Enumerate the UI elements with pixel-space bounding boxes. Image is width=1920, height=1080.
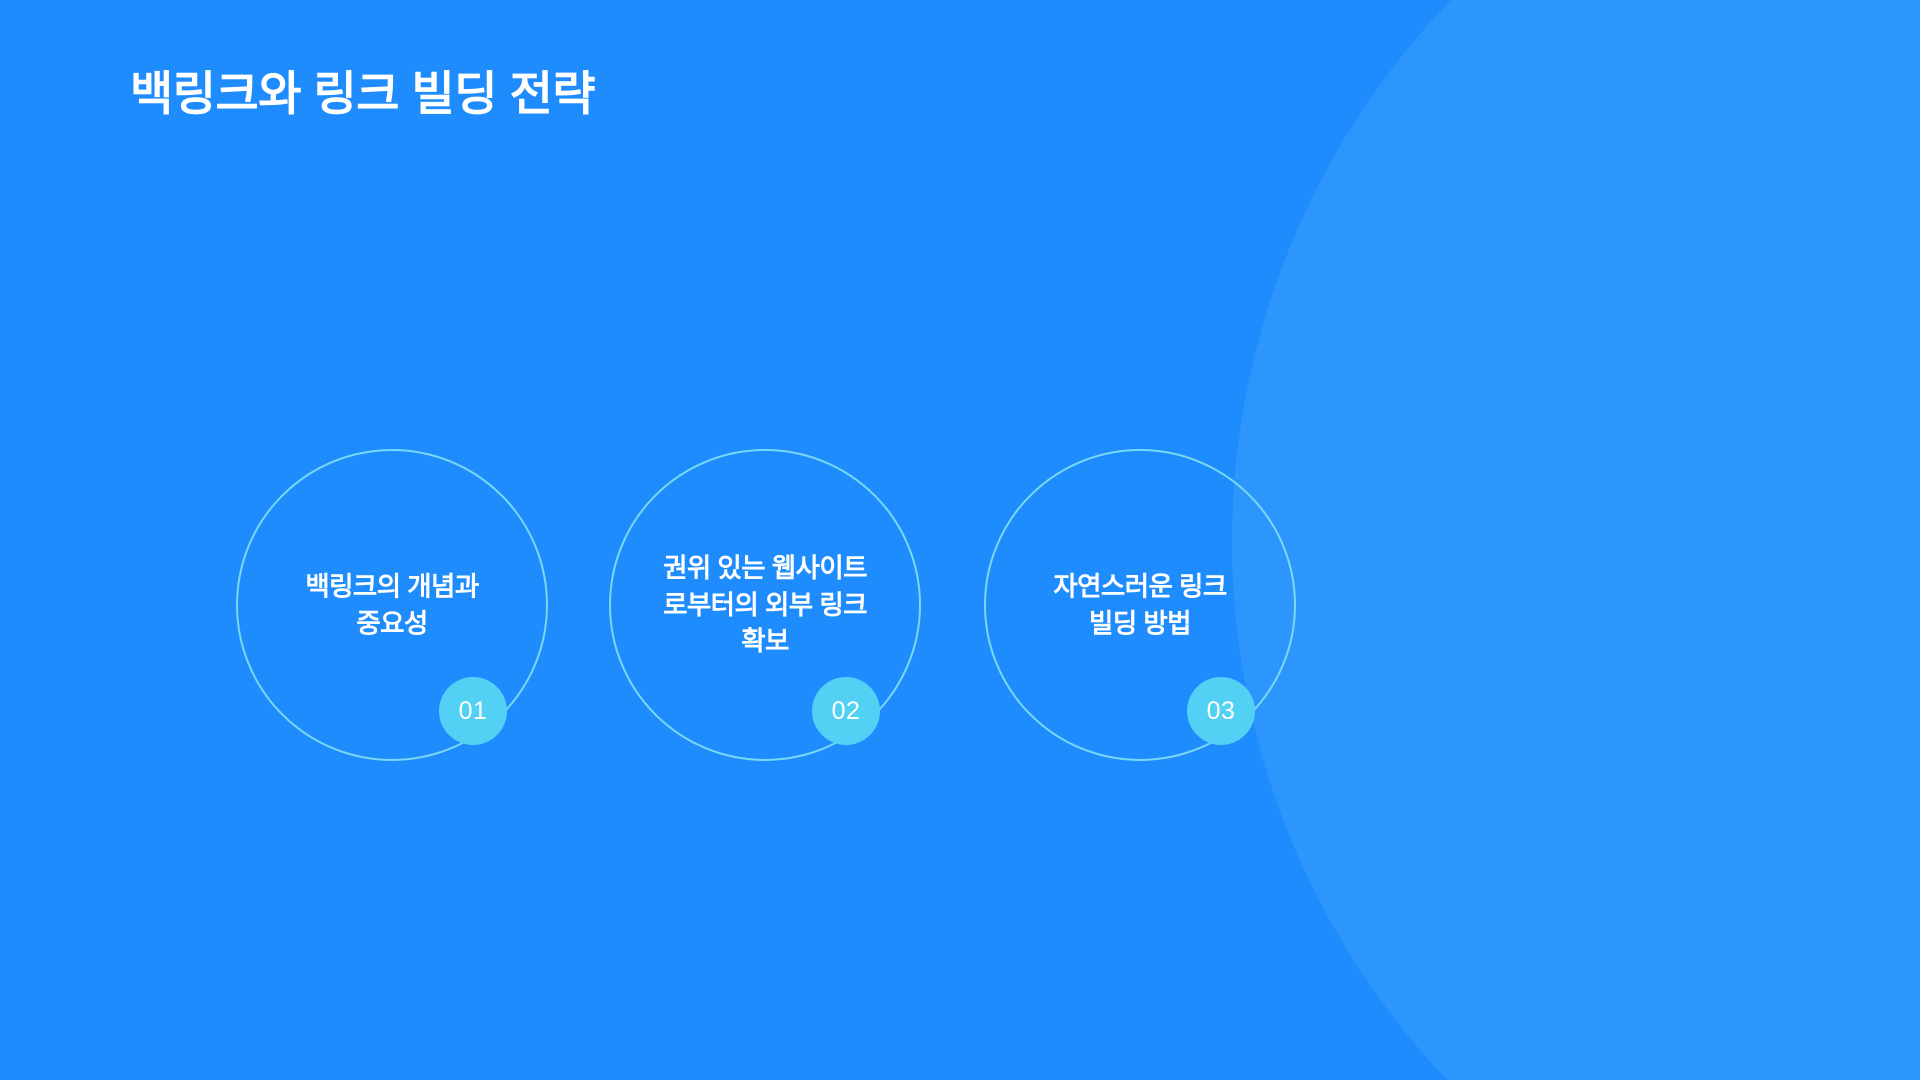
step-number-text: 02: [832, 699, 861, 724]
step-label: 권위 있는 웹사이트 로부터의 외부 링크 확보: [615, 550, 915, 660]
step-label: 백링크의 개념과 중요성: [242, 568, 542, 641]
step-number-badge: 02: [812, 677, 880, 745]
steps-group: 백링크의 개념과 중요성 01 권위 있는 웹사이트 로부터의 외부 링크 확보…: [0, 0, 1920, 1080]
step-item-03[interactable]: 자연스러운 링크 빌딩 방법 03: [984, 449, 1296, 761]
step-number-badge: 01: [439, 677, 507, 745]
step-number-badge: 03: [1187, 677, 1255, 745]
slide-canvas: 백링크와 링크 빌딩 전략 백링크의 개념과 중요성 01 권위 있는 웹사이트…: [0, 0, 1920, 1080]
step-item-02[interactable]: 권위 있는 웹사이트 로부터의 외부 링크 확보 02: [609, 449, 921, 761]
step-number-text: 01: [459, 699, 488, 724]
step-number-text: 03: [1207, 699, 1236, 724]
step-item-01[interactable]: 백링크의 개념과 중요성 01: [236, 449, 548, 761]
step-label: 자연스러운 링크 빌딩 방법: [990, 568, 1290, 641]
